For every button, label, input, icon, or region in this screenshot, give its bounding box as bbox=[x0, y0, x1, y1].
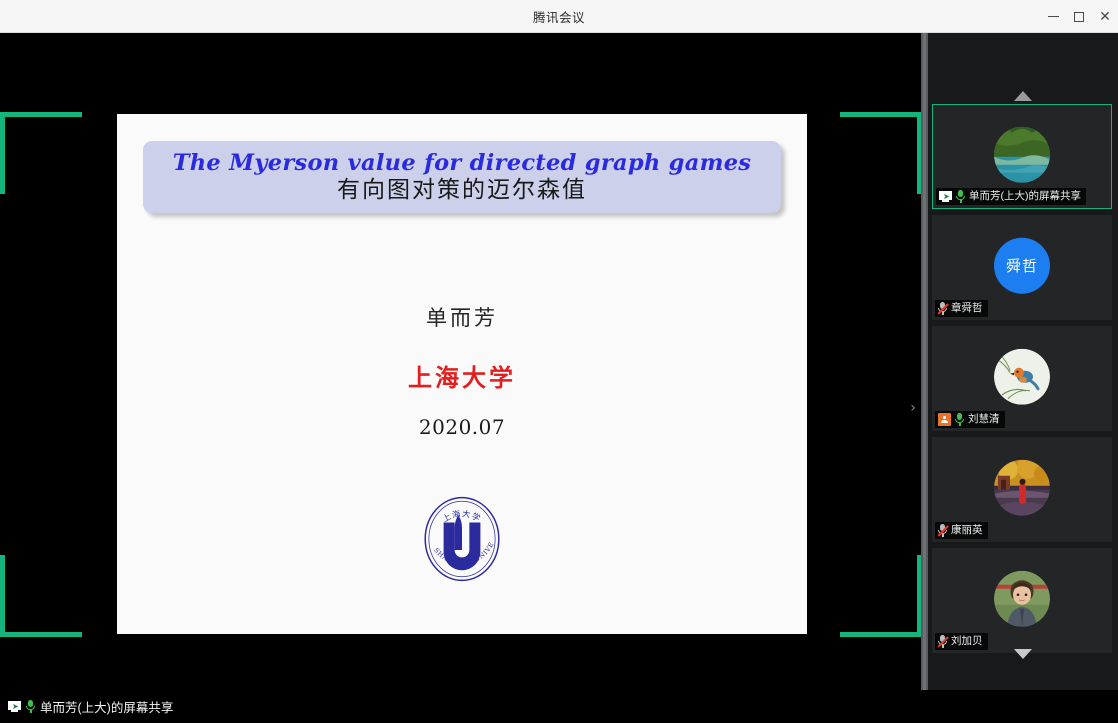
slide-affiliation: 上海大学 bbox=[117, 358, 807, 393]
chevron-up-icon bbox=[1014, 91, 1032, 101]
mic-on-icon bbox=[26, 700, 35, 713]
close-button[interactable]: ✕ bbox=[1092, 0, 1118, 33]
close-icon: ✕ bbox=[1099, 10, 1111, 24]
shanghai-university-logo-icon: 上海大学 SHANGHAI UNIVERSITY bbox=[416, 493, 508, 585]
window-title-bar: 腾讯会议 ✕ bbox=[0, 0, 1118, 33]
list-item[interactable]: 刘慧清 bbox=[932, 326, 1112, 431]
participant-nameplate: 刘慧清 bbox=[935, 411, 1005, 428]
participant-name: 康丽英 bbox=[951, 525, 983, 536]
mic-on-icon bbox=[955, 413, 964, 426]
participant-name: 章舜哲 bbox=[951, 303, 983, 314]
share-frame-corner-top-right bbox=[840, 112, 922, 194]
list-item[interactable]: 刘加贝 bbox=[932, 548, 1112, 653]
list-item[interactable]: 舜哲 章舜哲 bbox=[932, 215, 1112, 320]
participant-nameplate: 康丽英 bbox=[935, 522, 988, 539]
share-frame-corner-bottom-right bbox=[840, 555, 922, 637]
avatar bbox=[994, 126, 1050, 182]
maximize-button[interactable] bbox=[1066, 0, 1092, 33]
share-frame-corner-top-left bbox=[0, 112, 82, 194]
mic-muted-icon bbox=[938, 302, 947, 315]
panel-divider[interactable] bbox=[921, 33, 928, 723]
share-status-text: 单而芳(上大)的屏幕共享 bbox=[40, 697, 173, 716]
share-status-bar: ➤ 单而芳(上大)的屏幕共享 bbox=[0, 690, 928, 723]
mic-on-icon bbox=[956, 190, 965, 203]
participant-roster: ➤ 单而芳(上大)的屏幕共享 舜哲 章舜哲 bbox=[928, 33, 1118, 690]
roster-scroll-down-button[interactable] bbox=[928, 643, 1118, 665]
avatar: 舜哲 bbox=[994, 237, 1050, 293]
share-frame-corner-bottom-left bbox=[0, 555, 82, 637]
slide-title-english: The Myerson value for directed graph gam… bbox=[173, 152, 752, 176]
slide-title-box: The Myerson value for directed graph gam… bbox=[143, 141, 781, 213]
screen-share-icon: ➤ bbox=[8, 701, 21, 712]
list-item[interactable]: 康丽英 bbox=[932, 437, 1112, 542]
slide-date: 2020.07 bbox=[117, 415, 807, 439]
mic-muted-icon bbox=[938, 524, 947, 537]
list-item[interactable]: ➤ 单而芳(上大)的屏幕共享 bbox=[932, 104, 1112, 209]
avatar bbox=[994, 459, 1050, 515]
chevron-down-icon bbox=[1014, 649, 1032, 659]
participant-name: 刘慧清 bbox=[968, 414, 1000, 425]
window-controls: ✕ bbox=[1040, 0, 1118, 33]
avatar bbox=[994, 348, 1050, 404]
participant-name: 单而芳(上大)的屏幕共享 bbox=[969, 191, 1081, 202]
avatar bbox=[994, 570, 1050, 626]
minimize-icon bbox=[1048, 16, 1059, 17]
maximize-icon bbox=[1074, 12, 1084, 22]
slide-author: 单而芳 bbox=[117, 302, 807, 332]
slide-title-chinese: 有向图对策的迈尔森值 bbox=[337, 178, 587, 202]
host-badge-icon bbox=[938, 413, 951, 426]
shared-slide[interactable]: The Myerson value for directed graph gam… bbox=[117, 114, 807, 634]
participant-nameplate: ➤ 单而芳(上大)的屏幕共享 bbox=[936, 188, 1086, 205]
minimize-button[interactable] bbox=[1040, 0, 1066, 33]
participant-nameplate: 章舜哲 bbox=[935, 300, 988, 317]
collapse-roster-button[interactable]: › bbox=[905, 395, 921, 421]
screen-share-icon: ➤ bbox=[939, 191, 952, 202]
window-title: 腾讯会议 bbox=[533, 7, 585, 26]
